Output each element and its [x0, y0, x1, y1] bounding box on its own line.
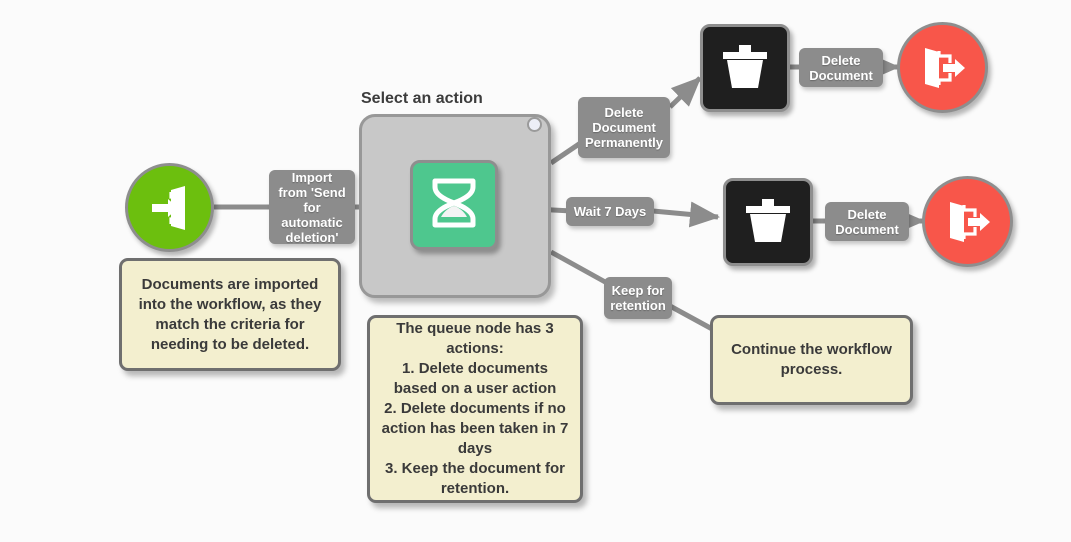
delete-document-node-top[interactable]: [700, 24, 790, 112]
edge-label-wait-7-days[interactable]: Wait 7 Days: [566, 197, 654, 226]
edge-label-delete-document-middle[interactable]: Delete Document: [825, 202, 909, 241]
note-import: Documents are imported into the workflow…: [119, 258, 341, 371]
edge-label-delete-document-top[interactable]: Delete Document: [799, 48, 883, 87]
queue-node[interactable]: [410, 160, 498, 250]
circle-badge-icon[interactable]: [527, 117, 542, 132]
trash-can-icon: [740, 192, 796, 253]
edge-label-keep-for-retention[interactable]: Keep for retention: [604, 277, 672, 319]
trash-can-icon: [717, 38, 773, 99]
delete-document-node-middle[interactable]: [723, 178, 813, 266]
note-continue: Continue the workflow process.: [710, 315, 913, 405]
exit-door-icon: [919, 44, 967, 92]
hourglass-icon: [426, 175, 482, 236]
end-node-top[interactable]: [897, 22, 988, 113]
end-node-middle[interactable]: [922, 176, 1013, 267]
exit-door-icon: [944, 198, 992, 246]
edge-label-delete-permanently[interactable]: Delete Document Permanently: [578, 97, 670, 158]
edge-label-import[interactable]: Import from 'Send for automatic deletion…: [269, 170, 355, 244]
enter-door-icon: [146, 184, 194, 232]
note-queue-actions: The queue node has 3 actions: 1. Delete …: [367, 315, 583, 503]
group-title: Select an action: [361, 90, 483, 108]
workflow-diagram-canvas: Select an action: [0, 0, 1071, 542]
start-node[interactable]: [125, 163, 214, 252]
